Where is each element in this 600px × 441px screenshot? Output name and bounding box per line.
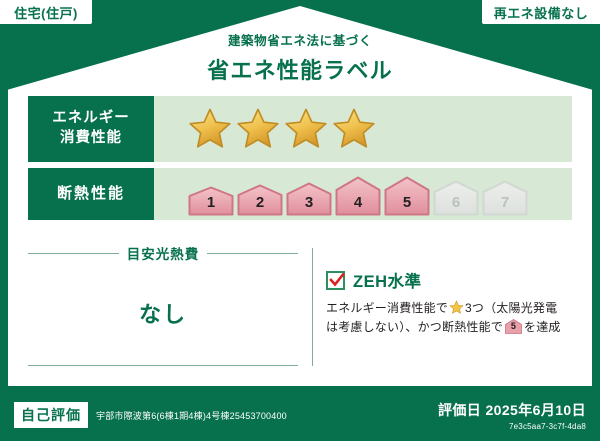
star-icon xyxy=(188,107,232,151)
energy-label-line2: 消費性能 xyxy=(60,129,122,149)
energy-label-line1: エネルギー xyxy=(52,109,130,129)
evaluation-date: 評価日 2025年6月10日 xyxy=(438,400,586,420)
insulation-performance-row: 断熱性能 1234567 xyxy=(28,168,572,220)
insulation-level-4: 4 xyxy=(335,176,381,216)
zeh-title: ZEH水準 xyxy=(353,268,422,292)
zeh-checkbox xyxy=(326,271,345,290)
self-evaluation-badge: 自己評価 xyxy=(14,402,88,428)
insulation-performance-value: 1234567 xyxy=(154,168,572,220)
energy-performance-label: 住宅(住戸) 再エネ設備なし 建築物省エネ法に基づく 省エネ性能ラベル エネルギ… xyxy=(0,0,600,441)
star-icon xyxy=(236,107,280,151)
star-icon xyxy=(332,107,376,151)
insulation-level-1: 1 xyxy=(188,186,234,216)
utility-cost-section: 目安光熱費 なし xyxy=(28,243,298,329)
utility-cost-value: なし xyxy=(28,297,298,329)
energy-performance-row: エネルギー 消費性能 xyxy=(28,96,572,162)
footer-right-block: 評価日 2025年6月10日 7e3c5aa7-3c7f-4da8 xyxy=(438,400,586,431)
insulation-level-number: 1 xyxy=(188,194,234,211)
insulation-level-3: 3 xyxy=(286,182,332,216)
heading-rule-left xyxy=(28,253,119,254)
utility-cost-heading-text: 目安光熱費 xyxy=(127,243,200,263)
insulation-level-number: 3 xyxy=(286,194,332,211)
building-type-tag: 住宅(住戸) xyxy=(0,0,92,24)
zeh-desc-part1: エネルギー消費性能で xyxy=(326,301,448,315)
zeh-heading: ZEH水準 xyxy=(326,268,576,292)
insulation-level-2: 2 xyxy=(237,184,283,216)
insulation-level-number: 4 xyxy=(335,194,381,211)
insulation-level-7: 7 xyxy=(482,180,528,216)
insulation-level-scale: 1234567 xyxy=(154,168,528,220)
check-icon xyxy=(329,273,345,288)
insulation-badge-number: 5 xyxy=(505,320,522,334)
title-block: 建築物省エネ法に基づく 省エネ性能ラベル xyxy=(0,34,600,85)
star-rating xyxy=(154,107,376,151)
star-icon xyxy=(449,300,464,315)
insulation-level-5: 5 xyxy=(384,176,430,216)
label-title: 省エネ性能ラベル xyxy=(0,53,600,85)
energy-performance-value xyxy=(154,96,572,162)
zeh-description: エネルギー消費性能で3つ（太陽光発電は考慮しない）、かつ断熱性能で5を達成 xyxy=(326,299,576,336)
performance-table: エネルギー 消費性能 断熱性能 1234567 xyxy=(28,96,572,226)
property-address: 宇部市際波第6(6棟1期4棟)4号棟25453700400 xyxy=(96,409,287,422)
insulation-label-text: 断熱性能 xyxy=(57,184,125,204)
insulation-level-number: 7 xyxy=(482,194,528,211)
insulation-level-number: 5 xyxy=(384,194,430,211)
renewable-energy-label: 再エネ設備なし xyxy=(494,3,589,22)
utility-cost-underline xyxy=(28,365,298,366)
section-divider xyxy=(312,248,313,366)
building-type-label: 住宅(住戸) xyxy=(14,3,78,22)
insulation-performance-label: 断熱性能 xyxy=(28,168,154,220)
zeh-desc-part2: は考慮しない）、かつ断熱性能で xyxy=(326,320,503,334)
renewable-energy-tag: 再エネ設備なし xyxy=(482,0,600,24)
evaluation-hash: 7e3c5aa7-3c7f-4da8 xyxy=(438,422,586,431)
zeh-desc-stars: 3つ（太陽光発電 xyxy=(465,301,557,315)
insulation-level-6: 6 xyxy=(433,180,479,216)
label-footer: 自己評価 宇部市際波第6(6棟1期4棟)4号棟25453700400 評価日 2… xyxy=(0,389,600,441)
star-icon xyxy=(284,107,328,151)
insulation-level-number: 2 xyxy=(237,194,283,211)
label-subtitle: 建築物省エネ法に基づく xyxy=(0,34,600,49)
insulation-level-number: 6 xyxy=(433,194,479,211)
insulation-badge-icon: 5 xyxy=(505,319,522,334)
zeh-section: ZEH水準 エネルギー消費性能で3つ（太陽光発電は考慮しない）、かつ断熱性能で5… xyxy=(326,268,576,336)
heading-rule-right xyxy=(207,253,298,254)
energy-performance-label: エネルギー 消費性能 xyxy=(28,96,154,162)
zeh-desc-part3: を達成 xyxy=(524,320,561,334)
utility-cost-heading: 目安光熱費 xyxy=(28,243,298,263)
